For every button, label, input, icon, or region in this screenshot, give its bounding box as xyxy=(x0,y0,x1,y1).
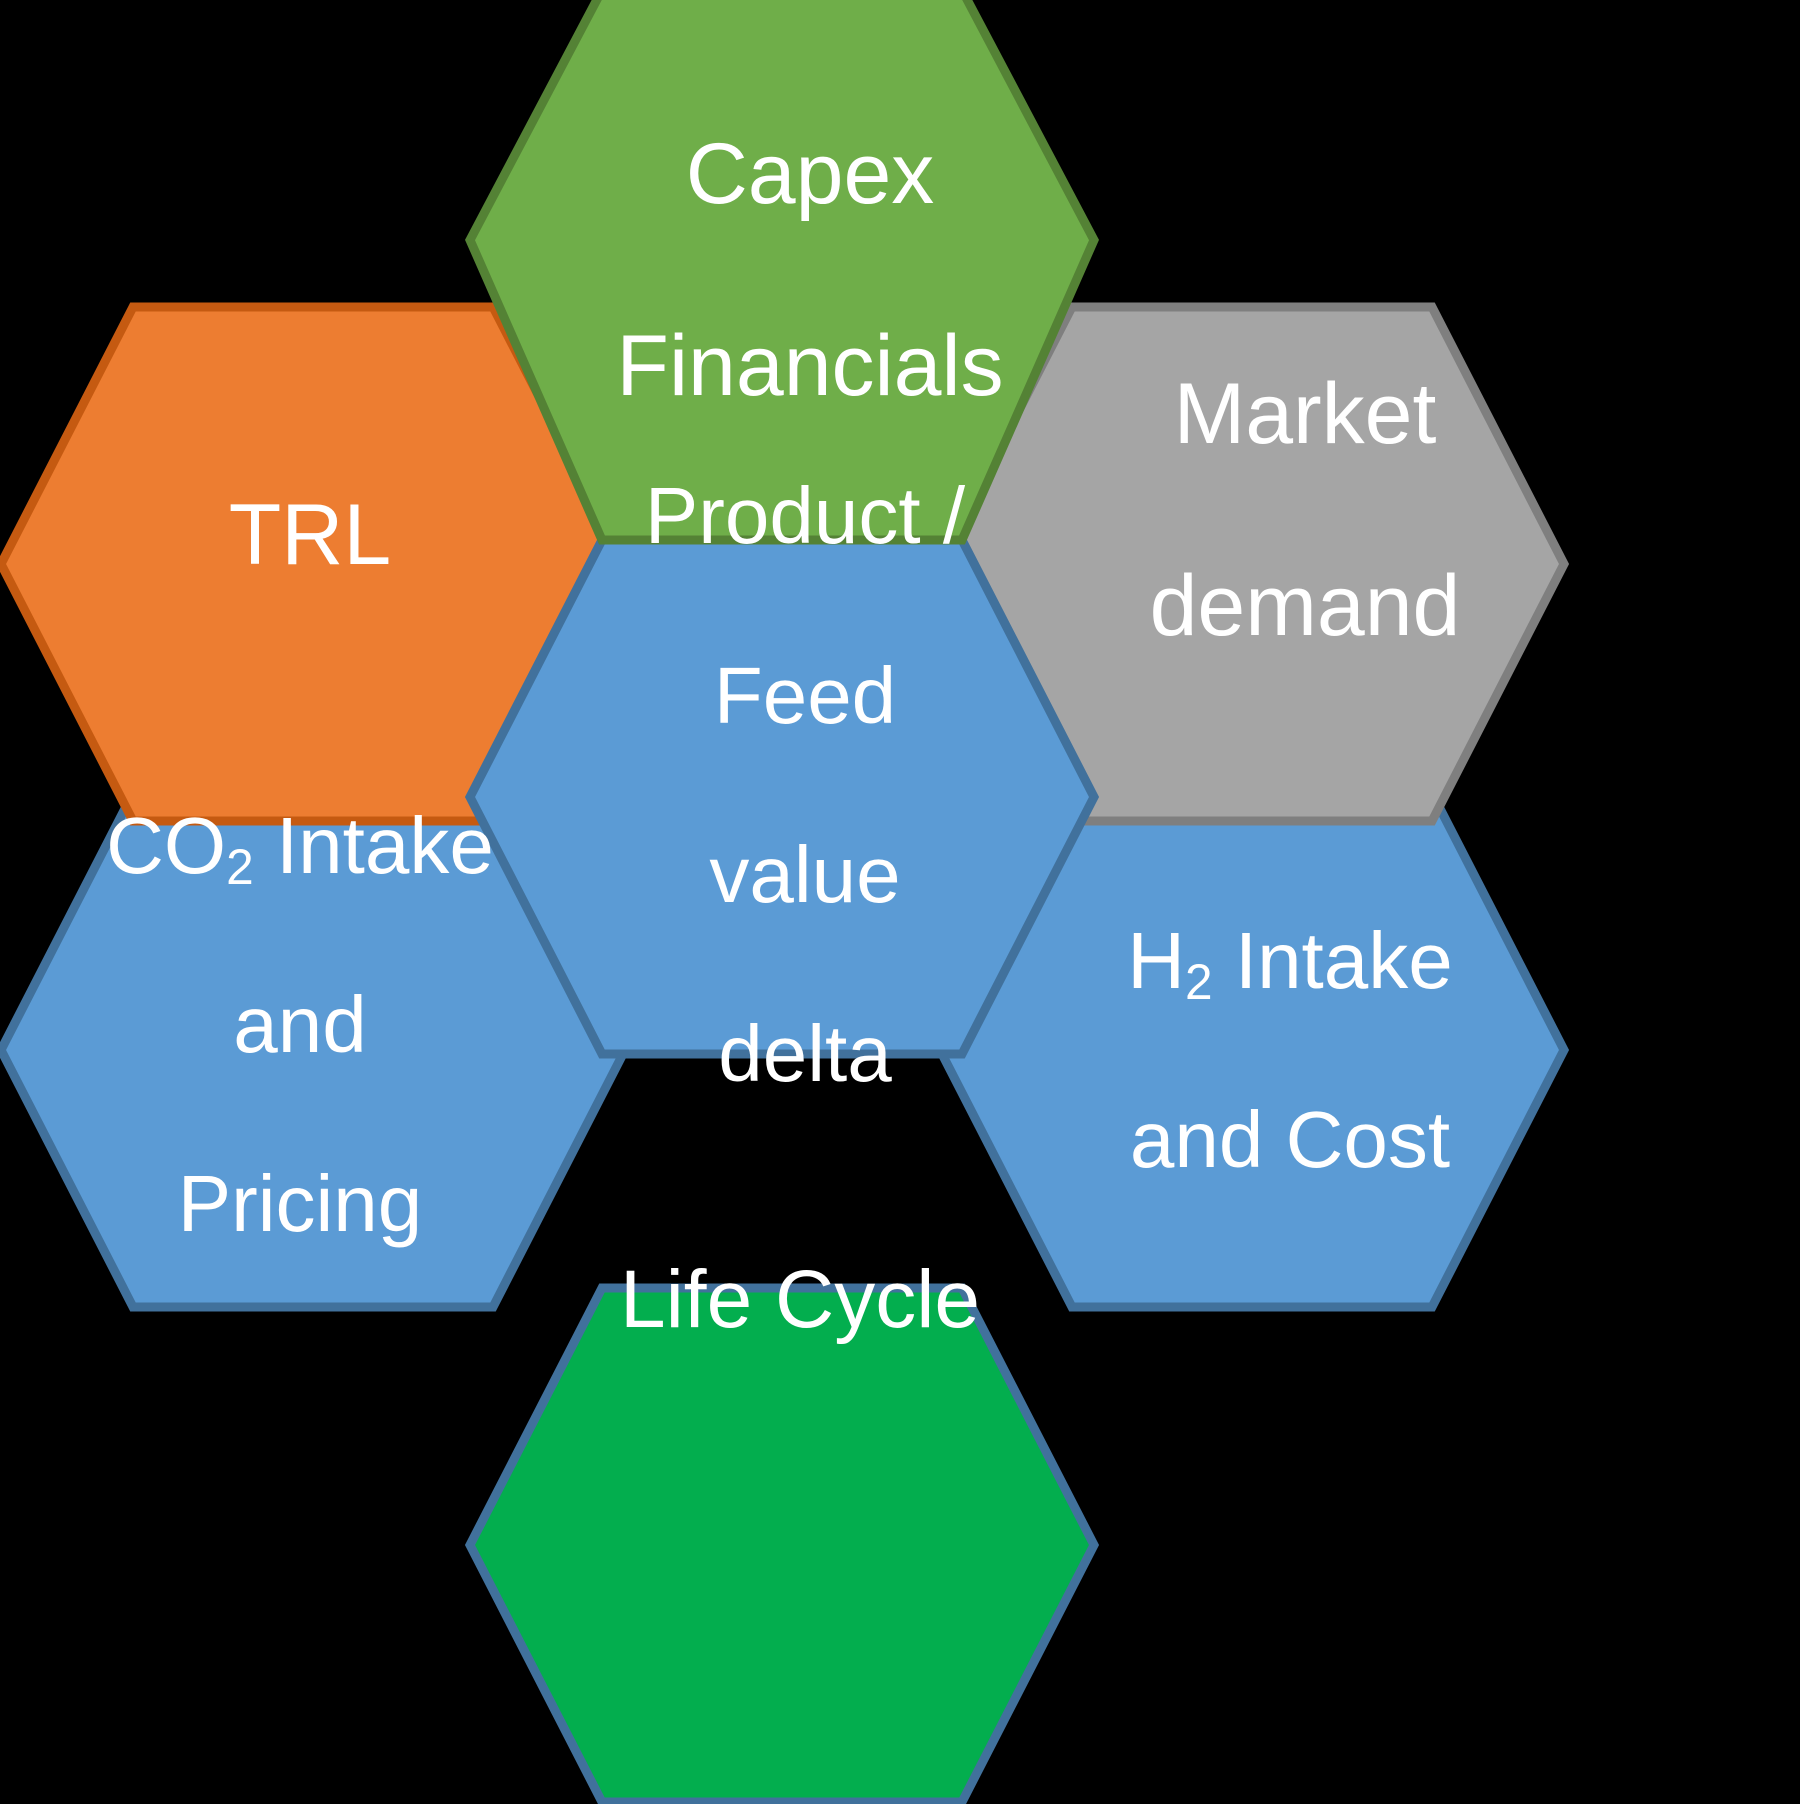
hexagon-shape-capex-financials[interactable] xyxy=(470,0,1094,540)
hexagon-shapes-layer xyxy=(0,0,1800,1804)
hexagon-shape-product-feed-value-delta[interactable] xyxy=(470,540,1094,1054)
hexagon-diagram-canvas: Capex Financials TRL Market demand Produ… xyxy=(0,0,1800,1804)
hexagon-shape-life-cycle[interactable] xyxy=(470,1288,1094,1802)
